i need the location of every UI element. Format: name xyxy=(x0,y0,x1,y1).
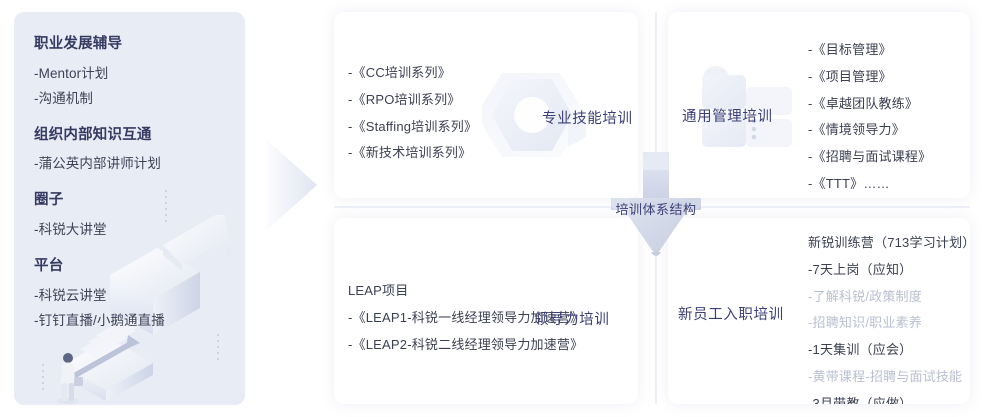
group-item: -科锐云讲堂 xyxy=(34,284,245,309)
skill-course-list: -《CC培训系列》 -《RPO培训系列》 -《Staffing培训系列》 -《新… xyxy=(348,60,477,167)
hub-label: 培训体系结构 xyxy=(611,199,701,218)
list-item: -《项目管理》 xyxy=(808,64,931,91)
list-item: -《CC培训系列》 xyxy=(348,60,477,87)
list-item: -《卓越团队教练》 xyxy=(808,91,931,118)
card-title-leadership: 领导力培训 xyxy=(534,308,610,329)
training-system-diagram: 职业发展辅导 -Mentor计划 -沟通机制 组织内部知识互通 -蒲公英内部讲师… xyxy=(0,0,983,417)
card-professional-skill-training[interactable]: -《CC培训系列》 -《RPO培训系列》 -《Staffing培训系列》 -《新… xyxy=(334,12,638,198)
list-item: -《TTT》…… xyxy=(808,171,931,198)
list-item: -《目标管理》 xyxy=(808,37,931,64)
group-item: -钉钉直播/小鹅通直播 xyxy=(34,309,245,334)
card-title-newhire: 新员工入职培训 xyxy=(678,303,784,324)
group-item: -沟通机制 xyxy=(34,87,245,112)
management-course-list: -《目标管理》 -《项目管理》 -《卓越团队教练》 -《情境领导力》 -《招聘与… xyxy=(808,37,931,198)
chevron-right-icon xyxy=(267,138,323,232)
card-leadership-training[interactable]: LEAP项目 -《LEAP1-科锐一线经理领导力加速营》 -《LEAP2-科锐二… xyxy=(334,218,638,404)
panel-group-knowledge: 组织内部知识互通 -蒲公英内部讲师计划 xyxy=(34,125,245,178)
dot-decoration-bottom xyxy=(217,334,220,364)
panel-group-circle: 圈子 -科锐大讲堂 xyxy=(34,190,245,243)
group-item: -科锐大讲堂 xyxy=(34,218,245,243)
newhire-course-list: 新锐训练营（713学习计划） -7天上岗（应知） -了解科锐/政策制度 -招聘知… xyxy=(808,230,970,404)
development-channels-panel: 职业发展辅导 -Mentor计划 -沟通机制 组织内部知识互通 -蒲公英内部讲师… xyxy=(14,12,245,405)
list-item: -1天集训（应会） xyxy=(808,337,970,364)
card-general-management-training[interactable]: -《目标管理》 -《项目管理》 -《卓越团队教练》 -《情境领导力》 -《招聘与… xyxy=(668,12,970,198)
list-item: -黄带课程-招聘与面试技能 xyxy=(808,364,970,391)
panel-group-career: 职业发展辅导 -Mentor计划 -沟通机制 xyxy=(34,34,245,112)
list-item: -《LEAP2-科锐二线经理领导力加速营》 xyxy=(348,332,583,359)
card-new-employee-onboarding-training[interactable]: 新锐训练营（713学习计划） -7天上岗（应知） -了解科锐/政策制度 -招聘知… xyxy=(668,218,970,404)
dot-decoration-left xyxy=(42,364,45,394)
group-heading: 职业发展辅导 xyxy=(34,34,245,56)
panel-group-platform: 平台 -科锐云讲堂 -钉钉直播/小鹅通直播 xyxy=(34,256,245,334)
list-item: -7天上岗（应知） xyxy=(808,257,970,284)
list-item: -《Staffing培训系列》 xyxy=(348,114,477,141)
list-item: -《新技术培训系列》 xyxy=(348,140,477,167)
group-heading: 组织内部知识互通 xyxy=(34,125,245,147)
group-heading: 平台 xyxy=(34,256,245,278)
list-item: -《RPO培训系列》 xyxy=(348,87,477,114)
card-title-skill: 专业技能培训 xyxy=(542,107,633,128)
list-item: 新锐训练营（713学习计划） xyxy=(808,230,970,257)
diamond-hub-icon[interactable]: 培训体系结构 xyxy=(611,152,701,264)
card-title-management: 通用管理培训 xyxy=(682,105,773,126)
list-item: LEAP项目 xyxy=(348,278,583,305)
list-item: -3月带教（应做） xyxy=(808,391,970,404)
list-item: -《招聘与面试课程》 xyxy=(808,144,931,171)
list-item: -了解科锐/政策制度 xyxy=(808,284,970,311)
list-item: -招聘知识/职业素养 xyxy=(808,310,970,337)
group-item: -Mentor计划 xyxy=(34,62,245,87)
group-item: -蒲公英内部讲师计划 xyxy=(34,152,245,177)
list-item: -《情境领导力》 xyxy=(808,117,931,144)
group-heading: 圈子 xyxy=(34,190,245,212)
